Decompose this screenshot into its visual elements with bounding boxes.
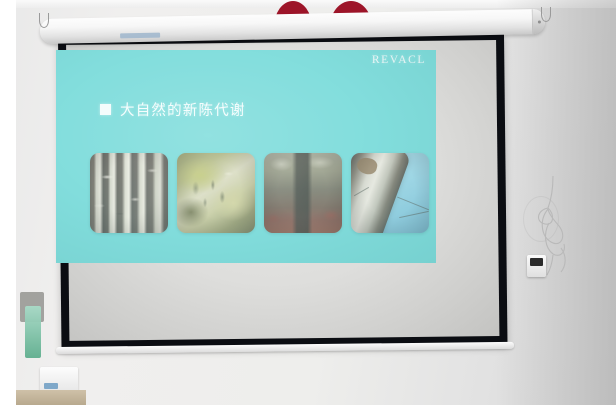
floor-strip — [16, 390, 86, 405]
image-left-border — [0, 0, 16, 405]
slide-heading: 大自然的新陈代谢 — [100, 99, 246, 120]
wall-hook-right — [541, 7, 551, 22]
screen-control-switch[interactable] — [527, 255, 546, 277]
slide-photo-4 — [351, 153, 429, 233]
slide-photo-2 — [177, 153, 255, 233]
slide-photo-3 — [264, 153, 342, 233]
projected-slide: REVACL 大自然的新陈代谢 — [56, 50, 436, 263]
teal-wall-object — [25, 306, 41, 358]
equipment-box-label — [44, 383, 58, 389]
switch-button[interactable] — [530, 258, 543, 266]
room-photo-scene: REVACL 大自然的新陈代谢 — [0, 0, 616, 405]
roller-brand-label — [120, 33, 160, 39]
slide-heading-text: 大自然的新陈代谢 — [120, 99, 246, 120]
brand-logo: REVACL — [372, 54, 426, 66]
slide-photo-row — [90, 153, 429, 233]
wall-hook-left — [39, 13, 49, 28]
bullet-square-icon — [100, 104, 111, 115]
slide-photo-1 — [90, 153, 168, 233]
